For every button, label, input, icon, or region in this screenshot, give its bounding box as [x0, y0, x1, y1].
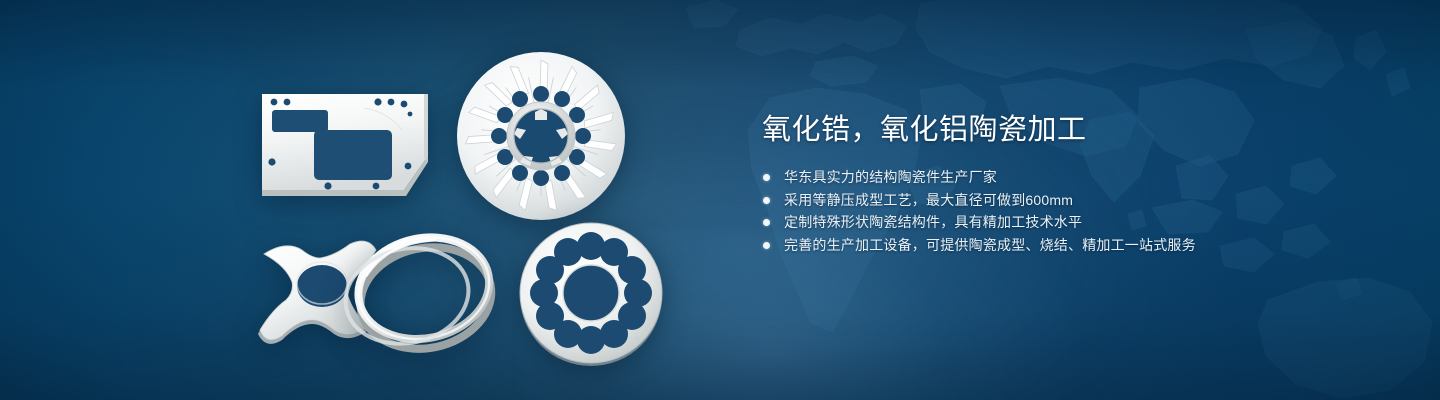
list-item: 华东具实力的结构陶瓷件生产厂家: [762, 166, 1382, 189]
ceramic-rings: [340, 222, 510, 356]
list-item: 定制特殊形状陶瓷结构件，具有精加工技术水平: [762, 211, 1382, 234]
bullet-dot-icon: [763, 219, 770, 226]
ceramic-perforated-disc: [514, 218, 668, 370]
feature-text: 采用等静压成型工艺，最大直径可做到600mm: [784, 192, 1073, 208]
bullet-dot-icon: [763, 242, 770, 249]
product-image-group: [0, 0, 740, 400]
feature-list: 华东具实力的结构陶瓷件生产厂家 采用等静压成型工艺，最大直径可做到600mm 定…: [762, 166, 1382, 256]
bullet-dot-icon: [763, 174, 770, 181]
banner-headline: 氧化锆，氧化铝陶瓷加工: [762, 108, 1382, 152]
list-item: 采用等静压成型工艺，最大直径可做到600mm: [762, 189, 1382, 212]
banner-copy: 氧化锆，氧化铝陶瓷加工 华东具实力的结构陶瓷件生产厂家 采用等静压成型工艺，最大…: [762, 108, 1382, 256]
bullet-dot-icon: [763, 197, 770, 204]
feature-text: 华东具实力的结构陶瓷件生产厂家: [784, 169, 997, 185]
ceramic-plate-with-cutouts: [252, 78, 442, 204]
list-item: 完善的生产加工设备，可提供陶瓷成型、烧结、精加工一站式服务: [762, 234, 1382, 257]
feature-text: 完善的生产加工设备，可提供陶瓷成型、烧结、精加工一站式服务: [784, 237, 1196, 253]
feature-text: 定制特殊形状陶瓷结构件，具有精加工技术水平: [784, 214, 1082, 230]
ceramic-vaned-impeller: [448, 46, 634, 228]
product-banner: 氧化锆，氧化铝陶瓷加工 华东具实力的结构陶瓷件生产厂家 采用等静压成型工艺，最大…: [0, 0, 1440, 400]
